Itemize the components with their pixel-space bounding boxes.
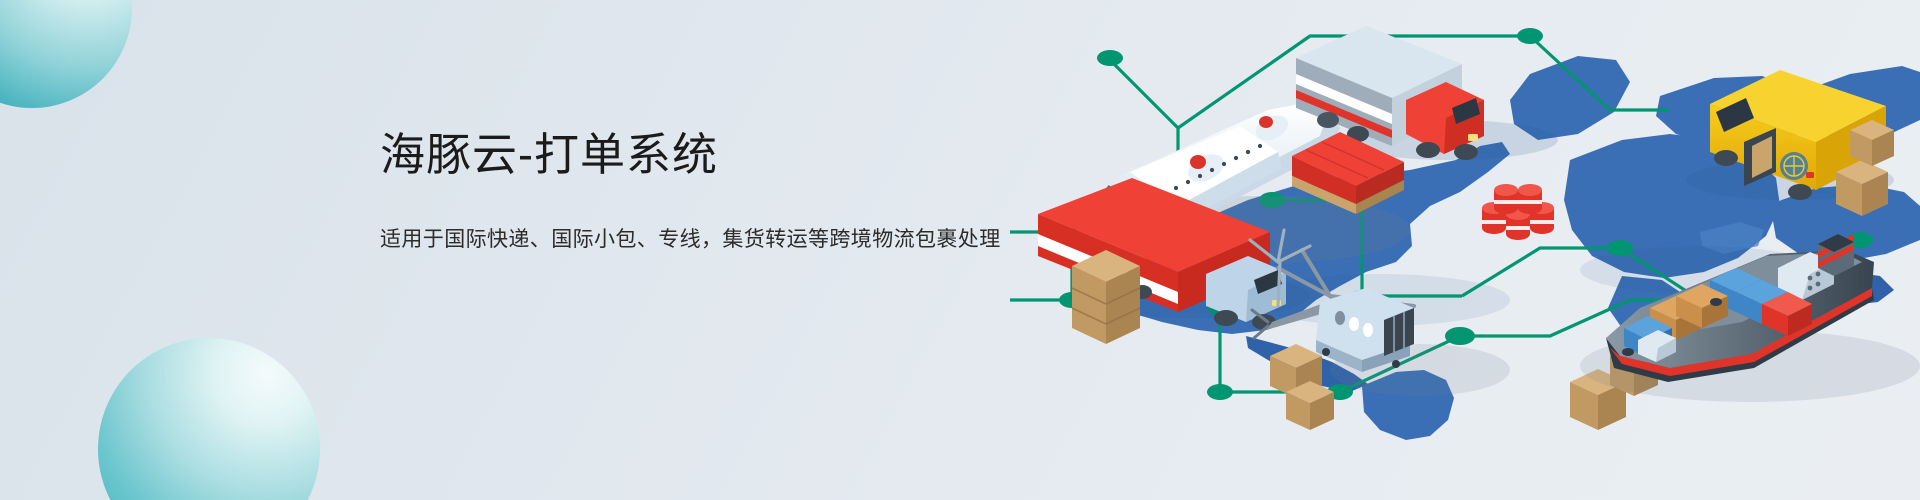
cardboard-boxes-icon — [1072, 250, 1140, 344]
page-title: 海豚云-打单系统 — [380, 128, 1001, 181]
hero-text-block: 海豚云-打单系统 适用于国际快递、国际小包、专线，集货转运等跨境物流包裹处理 — [380, 128, 1001, 254]
teal-gradient-circle-top-left — [0, 0, 132, 108]
hero-banner: 海豚云-打单系统 适用于国际快递、国际小包、专线，集货转运等跨境物流包裹处理 — [0, 0, 1920, 500]
teal-gradient-circle-bottom-left — [98, 338, 320, 500]
isometric-world-logistics-illustration — [1010, 0, 1920, 500]
helicopter-cargo-boxes-icon — [1270, 344, 1334, 430]
red-barrels-icon — [1482, 184, 1554, 240]
page-subtitle: 适用于国际快递、国际小包、专线，集货转运等跨境物流包裹处理 — [380, 181, 1001, 254]
